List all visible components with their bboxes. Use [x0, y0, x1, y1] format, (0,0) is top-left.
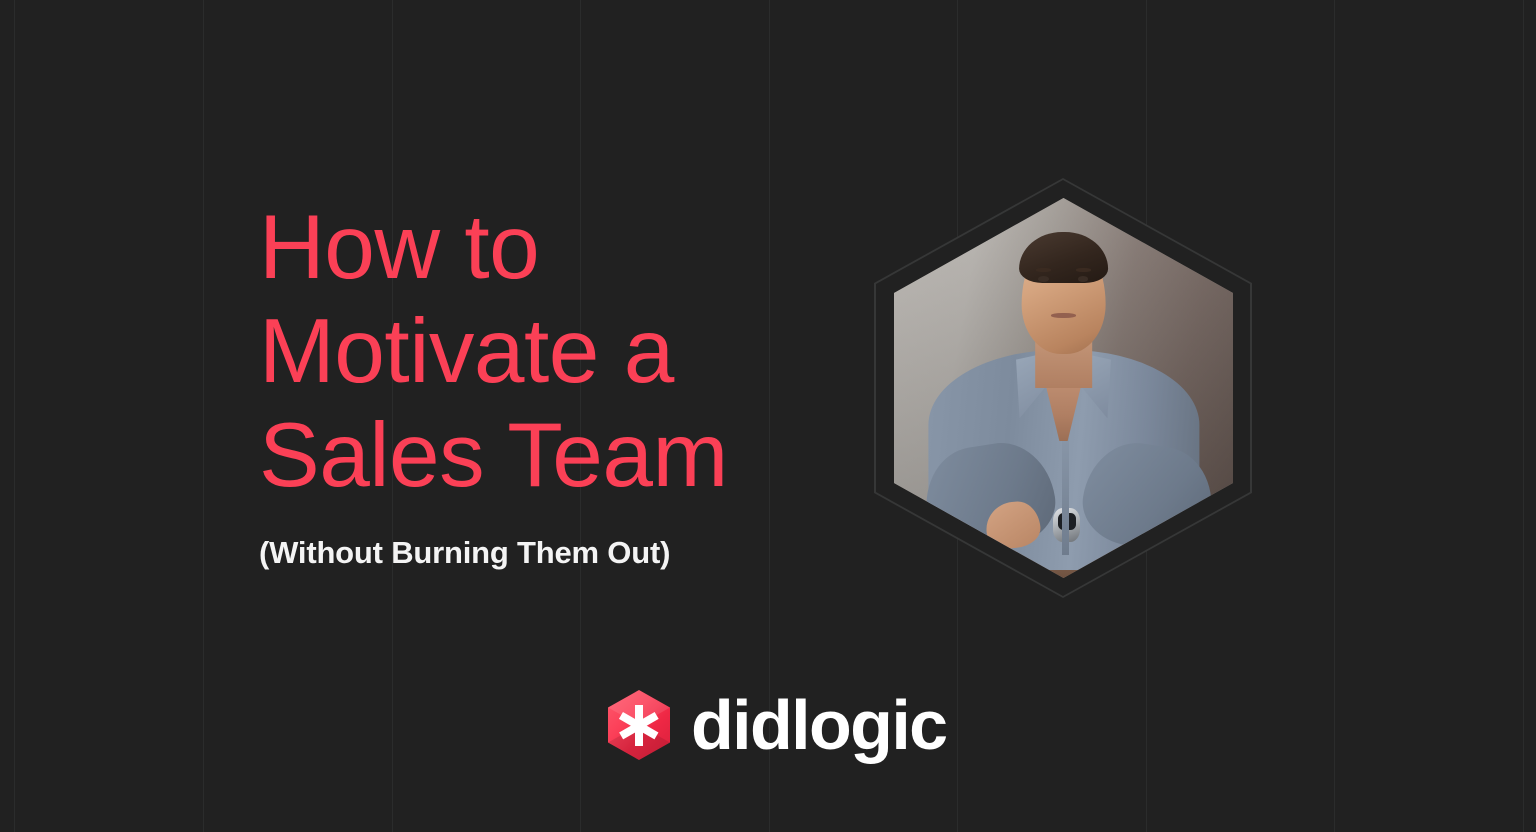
photo-brow-left [1036, 268, 1051, 272]
photo-mouth [1051, 313, 1076, 318]
photo-eye-right [1078, 276, 1089, 282]
photo-eye-left [1038, 276, 1049, 282]
didlogic-hexagon-asterisk-icon [608, 690, 670, 760]
photo-brow-right [1076, 268, 1091, 272]
portrait-hexagon [874, 178, 1252, 598]
page-title: How to Motivate a Sales Team [259, 196, 829, 508]
brand-wordmark: didlogic [691, 690, 947, 760]
headline-block: How to Motivate a Sales Team (Without Bu… [259, 196, 829, 572]
promo-banner: How to Motivate a Sales Team (Without Bu… [0, 0, 1536, 832]
page-subtitle: (Without Burning Them Out) [259, 534, 829, 572]
brand-logo-lockup: didlogic [608, 690, 947, 760]
asterisk-icon [608, 690, 670, 760]
